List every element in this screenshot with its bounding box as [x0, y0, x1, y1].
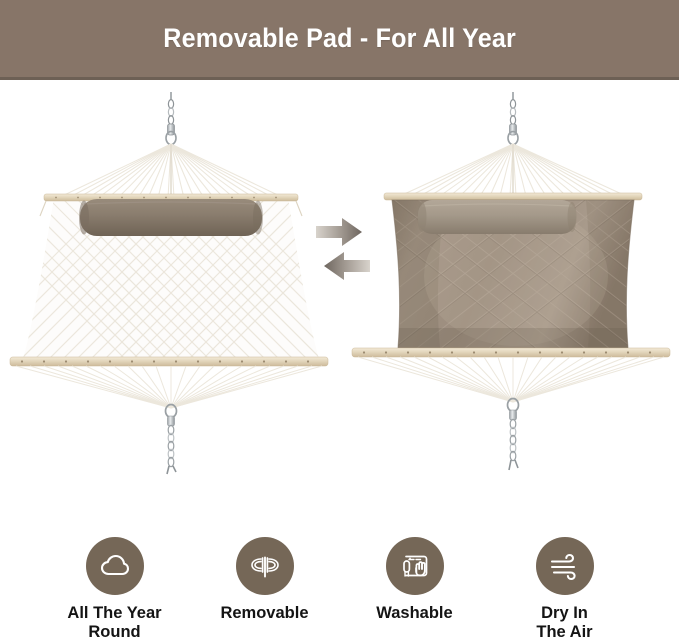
hammock-with-pad — [348, 80, 678, 480]
feature-all-the-year-round: All The Year Round — [40, 520, 190, 640]
wind-icon — [547, 549, 583, 583]
pillow-right — [418, 200, 577, 234]
pillow-left — [79, 199, 263, 236]
feature-badge-3 — [386, 537, 444, 595]
product-feature-image: Removable Pad - For All Year — [0, 0, 679, 640]
suspension-ropes-top-left — [58, 144, 284, 198]
feature-removable: Removable — [190, 520, 340, 623]
suspension-ropes-bottom-right — [358, 357, 664, 402]
feature-label-3: Washable — [376, 604, 452, 623]
cloud-icon — [98, 549, 132, 583]
suspension-ropes-top-right — [400, 144, 626, 196]
suspension-ropes-bottom-left — [16, 366, 322, 408]
feature-badge-1 — [86, 537, 144, 595]
feature-label-2: Removable — [220, 604, 308, 623]
top-hardware-left — [166, 92, 176, 145]
feature-badge-4 — [536, 537, 594, 595]
hammock-without-pad-illustration — [6, 80, 336, 480]
hammock-without-pad — [6, 80, 336, 480]
feature-dry-in-the-air: Dry In The Air — [490, 520, 640, 640]
feature-strip: All The Year Round Removable — [0, 520, 679, 640]
spreader-bar-bottom-left — [10, 357, 328, 366]
header-banner: Removable Pad - For All Year — [0, 0, 679, 80]
product-comparison-stage — [0, 80, 679, 520]
spreader-bar-bottom-right — [352, 348, 670, 357]
bottom-hardware-left — [166, 405, 177, 475]
hand-wash-icon — [398, 549, 432, 583]
feature-label-4: Dry In The Air — [536, 604, 592, 640]
bottom-hardware-right — [508, 399, 519, 471]
spreader-bar-top-right — [384, 193, 642, 200]
page-title: Removable Pad - For All Year — [163, 23, 516, 54]
top-hardware-right — [508, 92, 518, 145]
feature-label-1: All The Year Round — [67, 604, 161, 640]
detach-icon — [247, 549, 283, 583]
feature-badge-2 — [236, 537, 294, 595]
hammock-with-pad-illustration — [348, 80, 678, 480]
feature-washable: Washable — [340, 520, 490, 623]
